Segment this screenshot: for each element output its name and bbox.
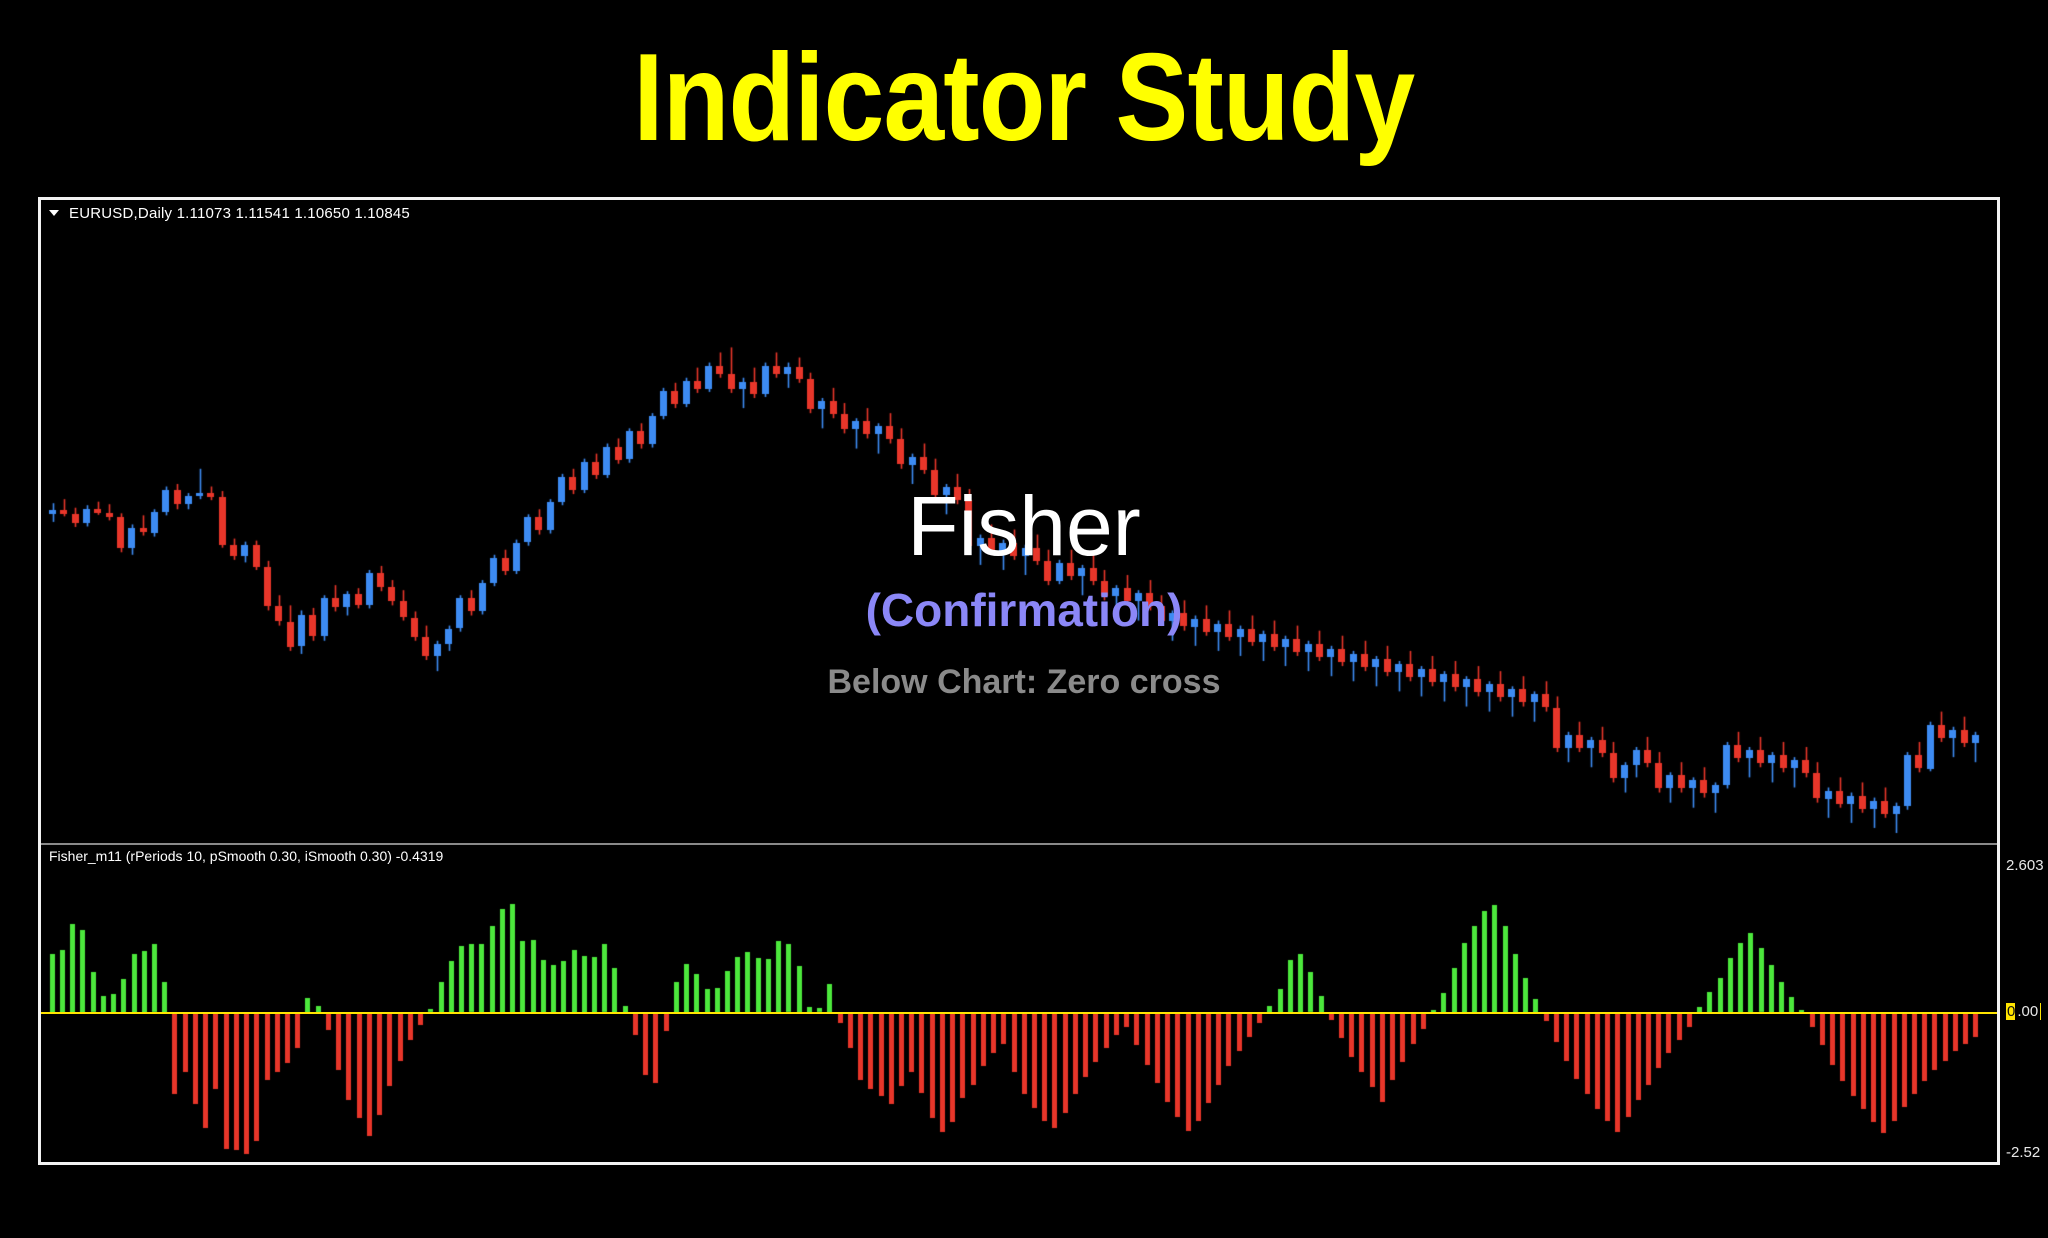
price-chart-header: EURUSD,Daily 1.11073 1.11541 1.10650 1.1… [49, 203, 410, 223]
zero-line [41, 1012, 1997, 1014]
indicator-pane[interactable]: Fisher_m11 (rPeriods 10, pSmooth 0.30, i… [41, 845, 1997, 1162]
chevron-down-icon[interactable] [49, 210, 59, 216]
fisher-histogram-canvas [41, 845, 1997, 1162]
indicator-header-label: Fisher_m11 (rPeriods 10, pSmooth 0.30, i… [49, 848, 443, 864]
indicator-scale-bottom-label: -2.52 [2006, 1144, 2040, 1161]
indicator-scale-top-label: 2.603 [2006, 857, 2044, 874]
price-chart-pane[interactable]: EURUSD,Daily 1.11073 1.11541 1.10650 1.1… [41, 200, 1997, 843]
terminal-inner: EURUSD,Daily 1.11073 1.11541 1.10650 1.1… [41, 200, 1997, 1162]
page-title: Indicator Study [633, 36, 1414, 160]
indicator-scale-zero-label: 0.00 [2006, 1003, 2041, 1020]
price-header-label: EURUSD,Daily 1.11073 1.11541 1.10650 1.1… [69, 205, 410, 222]
chart-terminal-window[interactable]: EURUSD,Daily 1.11073 1.11541 1.10650 1.1… [38, 197, 2000, 1165]
candlestick-canvas [41, 200, 1997, 843]
title-banner: Indicator Study [0, 0, 2048, 196]
indicator-header: Fisher_m11 (rPeriods 10, pSmooth 0.30, i… [49, 847, 443, 865]
right-scale-gutter: 2.603 0.00 -2.52 [2000, 197, 2048, 1165]
